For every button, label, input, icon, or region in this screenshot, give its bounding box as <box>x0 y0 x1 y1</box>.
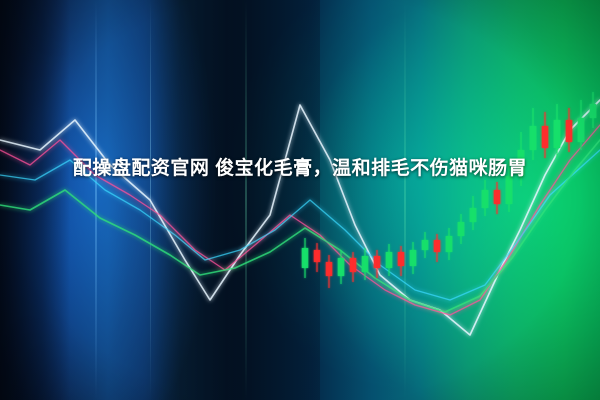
stock-market-banner-image: 配操盘配资官网 俊宝化毛膏，温和排毛不伤猫咪肠胃 <box>0 0 600 400</box>
promo-caption: 配操盘配资官网 俊宝化毛膏，温和排毛不伤猫咪肠胃 <box>0 150 600 188</box>
vignette-overlay <box>0 0 600 400</box>
